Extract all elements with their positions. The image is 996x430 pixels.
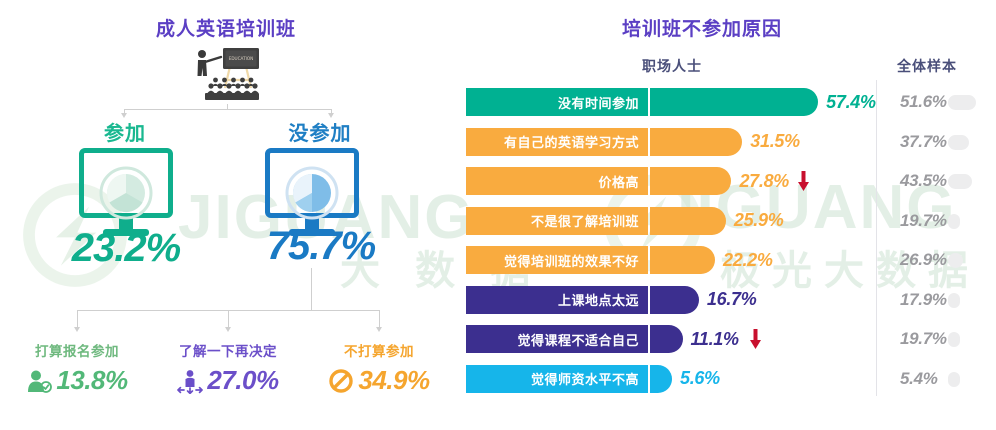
arrow-leaf-3 bbox=[376, 327, 382, 332]
bar-value-label: 11.1% bbox=[691, 325, 739, 353]
branch-label-nojoin: 没参加 bbox=[255, 117, 385, 146]
value-nojoin-percent: 75.7% bbox=[236, 224, 406, 269]
all-sample-value: 19.7% bbox=[900, 207, 947, 235]
all-sample-value: 19.7% bbox=[900, 325, 947, 353]
connector-drop-leaf-3 bbox=[379, 310, 380, 328]
connector-drop-leaf-2 bbox=[228, 310, 229, 328]
bar-value-label: 16.7% bbox=[707, 286, 757, 314]
bar-row-label: 价格高 bbox=[466, 167, 648, 195]
column-header-main: 职场人士 bbox=[612, 56, 732, 76]
bar-fill bbox=[650, 325, 683, 353]
all-sample-bar bbox=[948, 332, 960, 347]
left-panel-title: 成人英语培训班 bbox=[0, 14, 452, 41]
leaf-value-2: 27.0% bbox=[207, 365, 278, 396]
connector-horizontal-top bbox=[124, 109, 332, 110]
bar-value-label: 25.9% bbox=[734, 207, 784, 235]
connector-vertical-mid bbox=[311, 268, 312, 310]
all-sample-value: 51.6% bbox=[900, 88, 947, 116]
leaf-learn-more-first: 了解一下再决定 27.0% bbox=[153, 340, 303, 396]
leaf-title-2: 了解一下再决定 bbox=[153, 340, 303, 360]
all-sample-value: 43.5% bbox=[900, 167, 947, 195]
all-sample-bar bbox=[948, 135, 969, 150]
infographic-canvas: JIGUANG 大 数 据 JIGUANG 极光大数据 成人英语培训班 EDUC… bbox=[0, 0, 996, 430]
bar-value-label: 57.4% bbox=[826, 88, 876, 116]
leaf-value-1: 13.8% bbox=[56, 365, 127, 396]
bar-fill bbox=[650, 286, 699, 314]
bar-fill bbox=[650, 365, 672, 393]
monitor-icon-join bbox=[79, 148, 173, 238]
right-panel-title: 培训班不参加原因 bbox=[452, 14, 952, 41]
arrow-leaf-2 bbox=[225, 327, 231, 332]
leaf-not-planning: 不打算参加 34.9% bbox=[304, 340, 454, 396]
all-sample-value: 37.7% bbox=[900, 128, 947, 156]
pie-chart-glyph-nojoin bbox=[284, 165, 340, 221]
all-sample-bar bbox=[948, 372, 960, 387]
bar-row-label: 觉得课程不适合自己 bbox=[466, 325, 648, 353]
bar-fill bbox=[650, 167, 731, 195]
arrow-leaf-1 bbox=[74, 327, 80, 332]
bar-value-label: 31.5% bbox=[750, 128, 800, 156]
leaf-title-3: 不打算参加 bbox=[304, 340, 454, 360]
bar-row-label: 不是很了解培训班 bbox=[466, 207, 648, 235]
all-sample-bar bbox=[948, 95, 976, 110]
bar-fill bbox=[650, 246, 715, 274]
bar-value-label: 22.2% bbox=[723, 246, 773, 274]
prohibition-icon bbox=[328, 368, 354, 394]
value-join-percent: 23.2% bbox=[46, 226, 206, 271]
person-arrows-icon bbox=[177, 368, 203, 394]
bar-fill bbox=[650, 128, 742, 156]
bar-row-label: 没有时间参加 bbox=[466, 88, 648, 116]
bar-row-label: 有自己的英语学习方式 bbox=[466, 128, 648, 156]
decrease-arrow-icon bbox=[797, 171, 810, 191]
all-sample-value: 26.9% bbox=[900, 246, 947, 274]
leaf-title-1: 打算报名参加 bbox=[2, 340, 152, 360]
bar-row-label: 觉得师资水平不高 bbox=[466, 365, 648, 393]
all-sample-bar bbox=[948, 253, 963, 268]
connector-drop-leaf-1 bbox=[77, 310, 78, 328]
all-sample-bar bbox=[948, 214, 960, 229]
right-panel: 培训班不参加原因 职场人士 全体样本 没有时间参加57.4%51.6%有自己的英… bbox=[452, 0, 996, 430]
bar-fill bbox=[650, 207, 726, 235]
column-divider bbox=[876, 80, 877, 396]
bar-fill bbox=[650, 88, 818, 116]
bar-value-label: 5.6% bbox=[680, 365, 720, 393]
person-check-icon bbox=[26, 368, 52, 394]
all-sample-value: 17.9% bbox=[900, 286, 947, 314]
pie-chart-glyph-join bbox=[98, 165, 154, 221]
all-sample-bar bbox=[948, 293, 960, 308]
svg-text:EDUCATION: EDUCATION bbox=[229, 56, 254, 61]
decrease-arrow-icon bbox=[749, 329, 762, 349]
left-panel: 成人英语培训班 EDUCATION bbox=[0, 0, 452, 430]
leaf-value-3: 34.9% bbox=[358, 365, 429, 396]
bar-value-label: 27.8% bbox=[739, 167, 789, 195]
column-header-all: 全体样本 bbox=[882, 56, 972, 76]
leaf-plan-to-enroll: 打算报名参加 13.8% bbox=[2, 340, 152, 396]
branch-label-join: 参加 bbox=[70, 117, 180, 146]
bar-row-label: 上课地点太远 bbox=[466, 286, 648, 314]
teacher-blackboard-audience-illustration: EDUCATION bbox=[175, 42, 281, 104]
all-sample-bar bbox=[948, 174, 972, 189]
all-sample-value: 5.4% bbox=[900, 365, 938, 393]
bar-row-label: 觉得培训班的效果不好 bbox=[466, 246, 648, 274]
